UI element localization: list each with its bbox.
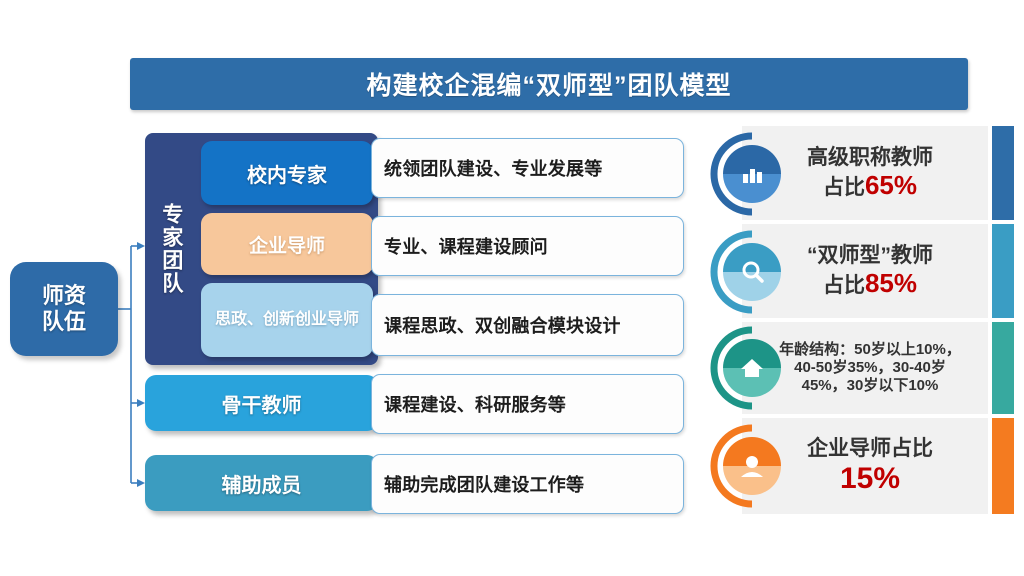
description-box: 专业、课程建设顾问 — [371, 216, 684, 276]
expert-team-label: 专家团队 — [145, 133, 197, 365]
description-box: 统领团队建设、专业发展等 — [371, 138, 684, 198]
stat-value: 15% — [840, 462, 900, 496]
description-text: 课程建设、科研服务等 — [372, 391, 566, 417]
description-text: 课程思政、双创融合模块设计 — [372, 312, 621, 338]
stat-line-2: 占比85% — [823, 268, 917, 299]
slide-title-banner: 构建校企混编“双师型”团队模型 — [130, 58, 968, 110]
stat-line-2: 占比65% — [823, 170, 917, 201]
stat-text: 高级职称教师 占比65% — [758, 126, 982, 220]
role-chip-enterprise-mentor[interactable]: 企业导师 — [201, 213, 373, 275]
stat-accent-bar — [992, 322, 1014, 414]
stat-line-1: “双师型”教师 — [807, 243, 933, 268]
statistics-panel: 高级职称教师 占比65% “双师型”教师 — [706, 126, 1018, 514]
root-node-teaching-staff[interactable]: 师资 队伍 — [10, 262, 118, 356]
stat-prefix: 占比 — [823, 274, 865, 297]
stat-text: 年龄结构：50岁以上10%， 40-50岁35%，30-40岁 45%，30岁以… — [758, 322, 982, 414]
stat-text: “双师型”教师 占比85% — [758, 224, 982, 318]
page-title: 构建校企混编“双师型”团队模型 — [366, 66, 731, 102]
description-text: 统领团队建设、专业发展等 — [372, 155, 602, 181]
root-line-2: 队伍 — [42, 309, 86, 335]
stat-line-3: 45%，30岁以下10% — [802, 377, 939, 395]
stat-value: 85% — [865, 268, 917, 298]
description-text: 专业、课程建设顾问 — [372, 233, 548, 259]
role-chip-backbone-teacher[interactable]: 骨干教师 — [145, 375, 378, 431]
role-chip-internal-expert[interactable]: 校内专家 — [201, 141, 373, 205]
stat-accent-bar — [992, 418, 1014, 514]
stat-value: 65% — [865, 170, 917, 200]
slide-canvas: 构建校企混编“双师型”团队模型 师资 队伍 专家团队 校内专家 企业导师 思政、… — [0, 0, 1024, 576]
stat-line-1: 企业导师占比 — [807, 436, 933, 461]
expert-team-group: 专家团队 校内专家 企业导师 思政、创新创业导师 — [145, 133, 378, 365]
stat-accent-bar — [992, 126, 1014, 220]
role-chip-ideological-innovation-mentor[interactable]: 思政、创新创业导师 — [201, 283, 373, 357]
stat-text: 企业导师占比 15% — [758, 418, 982, 514]
description-text: 辅助完成团队建设工作等 — [372, 471, 584, 497]
root-line-1: 师资 — [42, 283, 86, 309]
stat-line-1: 年龄结构：50岁以上10%， — [779, 341, 961, 359]
description-box: 课程思政、双创融合模块设计 — [371, 294, 684, 356]
role-chip-support-member[interactable]: 辅助成员 — [145, 455, 378, 511]
stat-line-1: 高级职称教师 — [807, 145, 933, 170]
description-box: 课程建设、科研服务等 — [371, 374, 684, 434]
description-box: 辅助完成团队建设工作等 — [371, 454, 684, 514]
stat-accent-bar — [992, 224, 1014, 318]
stat-line-2: 40-50岁35%，30-40岁 — [794, 359, 946, 377]
stat-prefix: 占比 — [823, 176, 865, 199]
